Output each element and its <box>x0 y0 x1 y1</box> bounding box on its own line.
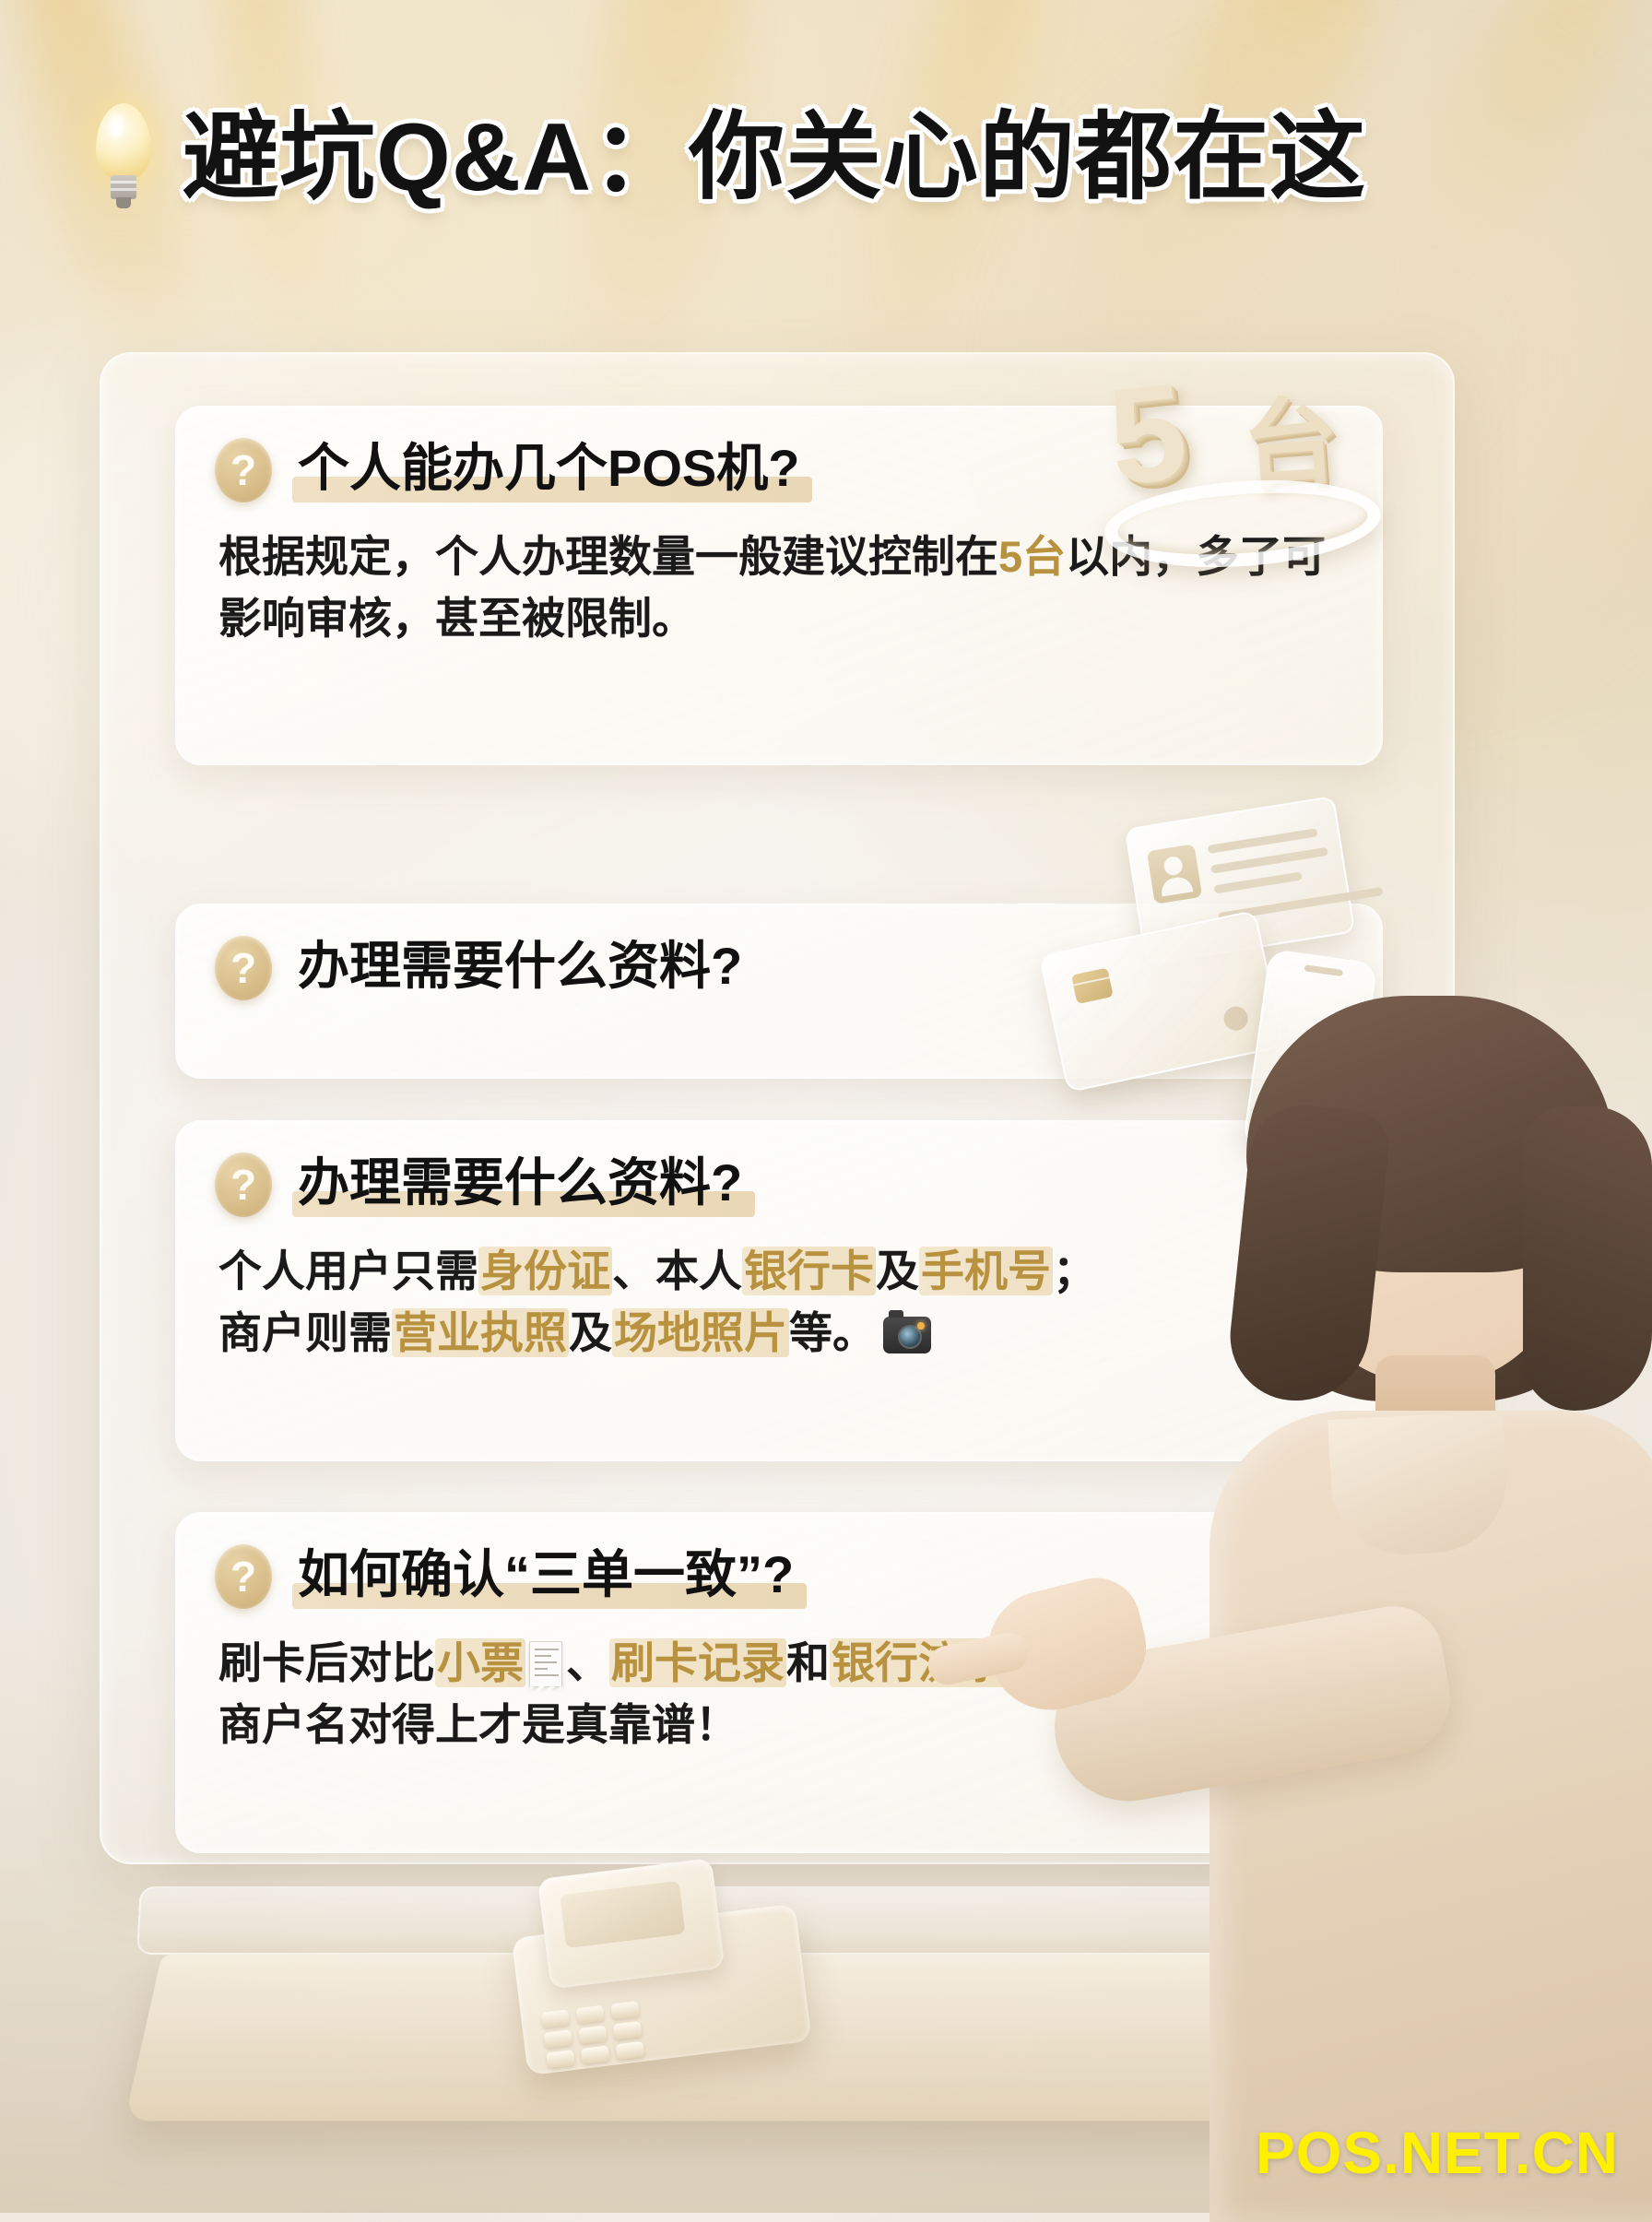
body-text: 个人用户只需 <box>218 1247 478 1295</box>
body-text: 商户则需 <box>218 1308 392 1357</box>
qa-card-2-title-text: 办理需要什么资料? <box>298 937 742 995</box>
qa-card-1-title: 个人能办几个POS机? <box>292 440 807 501</box>
hair-side <box>1523 1106 1652 1411</box>
highlight-swipe-record: 刷卡记录 <box>609 1638 786 1687</box>
watermark: POS.NET.CN <box>1256 2119 1619 2187</box>
qa-card-1-title-text: 个人能办几个POS机? <box>298 439 799 497</box>
qa-card-4-title-text: 如何确认“三单一致”? <box>298 1545 794 1603</box>
body-text: 、 <box>566 1638 609 1687</box>
body-text: 等。 <box>789 1308 876 1357</box>
receipt-icon <box>529 1641 562 1687</box>
highlight-5tai: 5台 <box>998 532 1066 581</box>
question-mark-icon: ? <box>215 1544 272 1609</box>
pos-terminal-screen <box>537 1858 725 1989</box>
body-text: 商户名对得上才是真靠谱！ <box>218 1700 738 1749</box>
highlight-receipt: 小票 <box>435 1638 525 1687</box>
qa-card-4-title: 如何确认“三单一致”? <box>292 1546 801 1607</box>
highlight-bank-card: 银行卡 <box>742 1247 876 1295</box>
qa-card-3-title: 办理需要什么资料? <box>292 1154 749 1215</box>
question-mark-icon: ? <box>215 1152 272 1217</box>
lightbulb-icon <box>88 103 159 212</box>
woman-pointing-3d <box>970 996 1652 2222</box>
body-text: 刷卡后对比 <box>218 1638 435 1687</box>
highlight-venue-photo: 场地照片 <box>612 1308 789 1357</box>
pos-terminal-3d <box>504 1843 859 2094</box>
qa-card-2-title: 办理需要什么资料? <box>292 938 749 999</box>
page-title: 避坑Q&A：你关心的都在这 <box>183 110 1366 206</box>
five-units-3d-graphic: 5 台 <box>1097 369 1392 581</box>
body-text: 及 <box>876 1247 919 1295</box>
body-text: 根据规定，个人办理数量一般建议控制在 <box>218 532 998 581</box>
highlight-business-license: 营业执照 <box>392 1308 569 1357</box>
question-mark-icon: ? <box>215 438 272 502</box>
highlight-id-card: 身份证 <box>478 1247 612 1295</box>
qa-card-3-title-text: 办理需要什么资料? <box>298 1153 742 1211</box>
pos-keypad <box>541 1996 687 2081</box>
body-text: 、本人 <box>612 1247 742 1295</box>
camera-icon <box>883 1317 931 1353</box>
body-text: 及 <box>569 1308 612 1357</box>
page-header: 避坑Q&A：你关心的都在这 <box>88 89 1582 227</box>
question-mark-icon: ? <box>215 936 272 1000</box>
five-number-3d: 5 <box>1103 363 1192 507</box>
body-text: 和 <box>786 1638 830 1687</box>
